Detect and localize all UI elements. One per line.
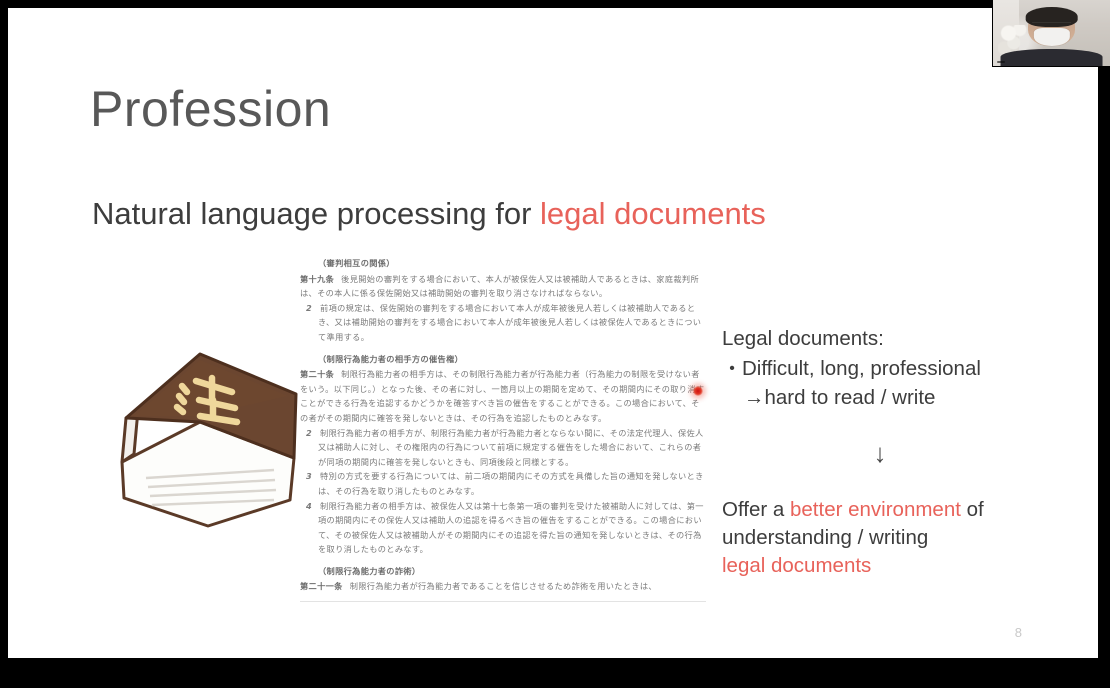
article-number: 第十九条: [300, 274, 334, 284]
paragraph-number: 3: [306, 471, 312, 481]
notes-bottom-line-2: understanding / writing: [722, 524, 1072, 552]
article-paragraph: 4制限行為能力者の相手方は、被保佐人又は第十七条第一項の審判を受けた被補助人に対…: [300, 499, 706, 557]
paragraph-number: 2: [306, 303, 312, 313]
bullet-body: Difficult, long, professional →hard to r…: [742, 354, 1062, 412]
page-number: 8: [1015, 625, 1022, 640]
bullet-subtext: →hard to read / write: [744, 383, 1062, 412]
subtitle-lead: Natural language processing for: [92, 196, 540, 231]
page-title: Profession: [90, 80, 331, 138]
article-text: 後見開始の審判をする場合において、本人が被保佐人又は被補助人であるときは、家庭裁…: [300, 274, 699, 299]
webcam-tile[interactable]: [992, 0, 1110, 67]
bullet-text: Difficult, long, professional: [742, 357, 981, 380]
webcam-video-feed: [993, 0, 1110, 66]
participant-name-label: [997, 61, 1005, 63]
notes-heading: Legal documents:: [722, 324, 1062, 353]
article-body: 第二十一条制限行為能力者が行為能力者であることを信じさせるため詐術を用いたときは…: [300, 579, 706, 594]
article-paragraph: 3特別の方式を要する行為については、前二項の期間内にその方式を具備した旨の通知を…: [300, 469, 706, 498]
legal-document-scan: （審判相互の関係） 第十九条後見開始の審判をする場合において、本人が被保佐人又は…: [300, 256, 706, 622]
law-book-icon: [104, 330, 300, 528]
legal-article-block: （制限行為能力者の相手方の催告権） 第二十条制限行為能力者の相手方は、その制限行…: [300, 352, 706, 557]
slide-canvas: Profession Natural language processing f…: [8, 8, 1098, 658]
slide-subtitle: Natural language processing for legal do…: [92, 196, 766, 232]
legal-article-block: （審判相互の関係） 第十九条後見開始の審判をする場合において、本人が被保佐人又は…: [300, 256, 706, 345]
article-paragraph: 2前項の規定は、保佐開始の審判をする場合において本人が成年被後見人若しくは被補助…: [300, 301, 706, 345]
article-body: 第十九条後見開始の審判をする場合において、本人が被保佐人又は被補助人であるときは…: [300, 272, 706, 301]
notes-bottom-block: Offer a better environment of understand…: [722, 496, 1072, 580]
subtitle-highlight: legal documents: [540, 196, 766, 231]
law-book-illustration: [104, 330, 300, 528]
paragraph-text: 前項の規定は、保佐開始の審判をする場合において本人が成年被後見人若しくは被補助人…: [318, 303, 701, 342]
laser-pointer-dot: [693, 386, 703, 396]
presentation-viewer: Profession Natural language processing f…: [0, 0, 1110, 688]
offer-tail: of: [961, 498, 984, 521]
article-heading: （制限行為能力者の相手方の催告権）: [318, 352, 706, 367]
offer-lead: Offer a: [722, 498, 790, 521]
article-number: 第二十条: [300, 369, 334, 379]
offer-highlight: better environment: [790, 498, 961, 521]
bullet-marker-icon: •: [722, 354, 742, 412]
list-item: • Difficult, long, professional →hard to…: [722, 354, 1062, 412]
article-text: 制限行為能力者が行為能力者であることを信じさせるため詐術を用いたときは、: [350, 581, 657, 591]
article-number: 第二十一条: [300, 581, 343, 591]
paragraph-text: 特別の方式を要する行為については、前二項の期間内にその方式を具備した旨の通知を発…: [318, 471, 704, 496]
paragraph-text: 制限行為能力者の相手方が、制限行為能力者が行為能力者とならない間に、その法定代理…: [318, 428, 704, 467]
webcam-person-shoulders: [1000, 49, 1103, 66]
article-paragraph: 2制限行為能力者の相手方が、制限行為能力者が行為能力者とならない間に、その法定代…: [300, 426, 706, 470]
notes-top-block: Legal documents: • Difficult, long, prof…: [722, 324, 1062, 412]
paragraph-text: 制限行為能力者の相手方は、被保佐人又は第十七条第一項の審判を受けた被補助人に対し…: [318, 501, 704, 555]
legal-article-block: （制限行為能力者の詐術） 第二十一条制限行為能力者が行為能力者であることを信じさ…: [300, 564, 706, 594]
article-heading: （審判相互の関係）: [318, 256, 706, 271]
article-heading: （制限行為能力者の詐術）: [318, 564, 706, 579]
paragraph-number: 4: [306, 501, 312, 511]
paragraph-number: 2: [306, 428, 312, 438]
legal-document-text: （審判相互の関係） 第十九条後見開始の審判をする場合において、本人が被保佐人又は…: [300, 256, 706, 602]
article-body: 第二十条制限行為能力者の相手方は、その制限行為能力者が行為能力者（行為能力の制限…: [300, 367, 706, 425]
document-bottom-rule: [300, 601, 706, 602]
down-arrow-icon: ↓: [863, 436, 897, 470]
notes-bottom-line-3: legal documents: [722, 552, 1072, 580]
article-text: 制限行為能力者の相手方は、その制限行為能力者が行為能力者（行為能力の制限を受けな…: [300, 369, 704, 423]
notes-bottom-line-1: Offer a better environment of: [722, 496, 1072, 524]
